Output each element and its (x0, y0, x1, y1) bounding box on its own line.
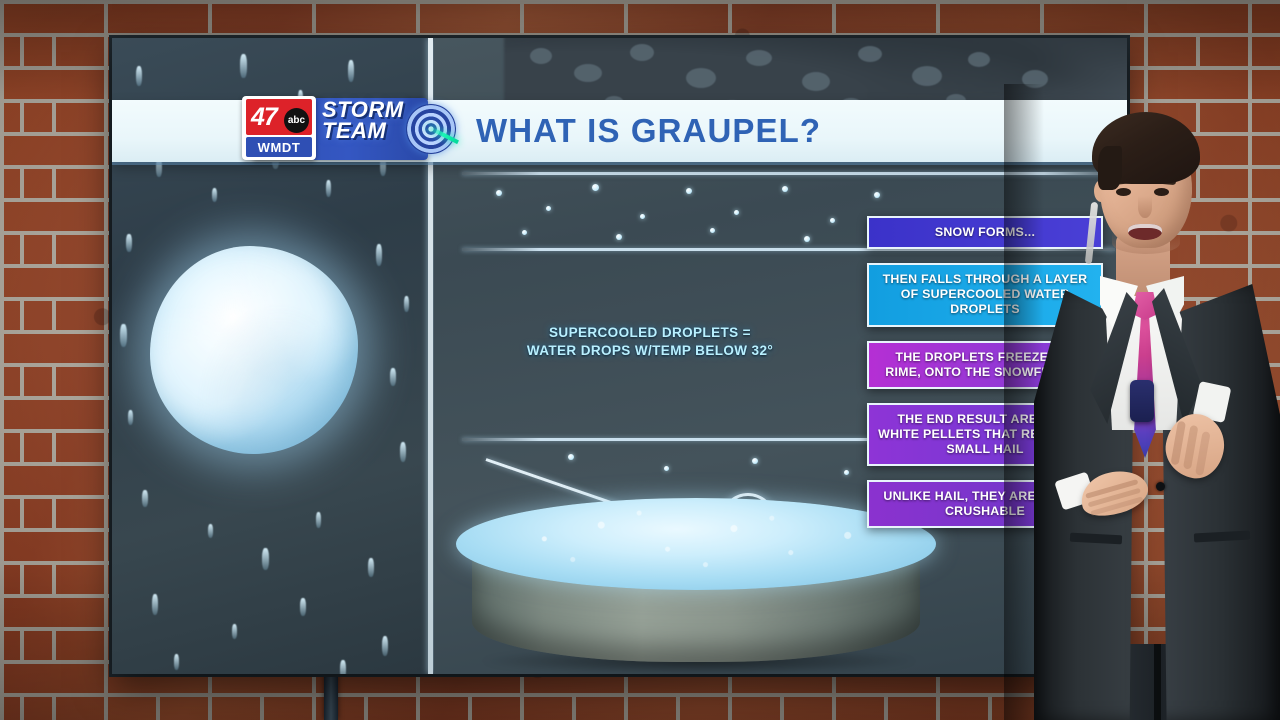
channel-badge: 47 abc WMDT (242, 96, 316, 160)
presenter-hair (1092, 112, 1200, 184)
storm-team-wordmark: STORM TEAM (322, 99, 404, 141)
brand-line-1: STORM (322, 99, 404, 120)
eye-right (1154, 188, 1169, 196)
eye-left (1116, 188, 1131, 196)
graupel-pellet (150, 246, 358, 454)
microphone (1130, 380, 1154, 422)
station-logo: 47 abc WMDT STORM TEAM (238, 94, 443, 166)
call-sign: WMDT (246, 137, 312, 157)
abc-network-icon: abc (284, 108, 309, 133)
broadcast-stage: SUPERCOOLED DROPLETS = WATER DROPS W/TEM… (0, 0, 1280, 720)
earpiece-icon (1085, 202, 1098, 264)
snow-covered-platform (456, 498, 936, 674)
platform-snow-surface (456, 498, 936, 590)
screen-content: SUPERCOOLED DROPLETS = WATER DROPS W/TEM… (112, 38, 1127, 674)
presenter-nose (1138, 196, 1152, 218)
presenter-mouth (1128, 224, 1162, 240)
monitor-stand (324, 672, 338, 720)
annotation-line-1: SUPERCOOLED DROPLETS = (500, 324, 800, 342)
video-wall-display[interactable]: SUPERCOOLED DROPLETS = WATER DROPS W/TEM… (112, 38, 1127, 674)
brand-line-2: TEAM (322, 120, 404, 141)
suit-button (1156, 482, 1165, 491)
meteorologist (1028, 84, 1280, 720)
page-title: WHAT IS GRAUPEL? (476, 112, 821, 150)
supercooled-droplets-annotation: SUPERCOOLED DROPLETS = WATER DROPS W/TEM… (500, 324, 800, 360)
annotation-line-2: WATER DROPS W/TEMP BELOW 32° (500, 342, 800, 360)
